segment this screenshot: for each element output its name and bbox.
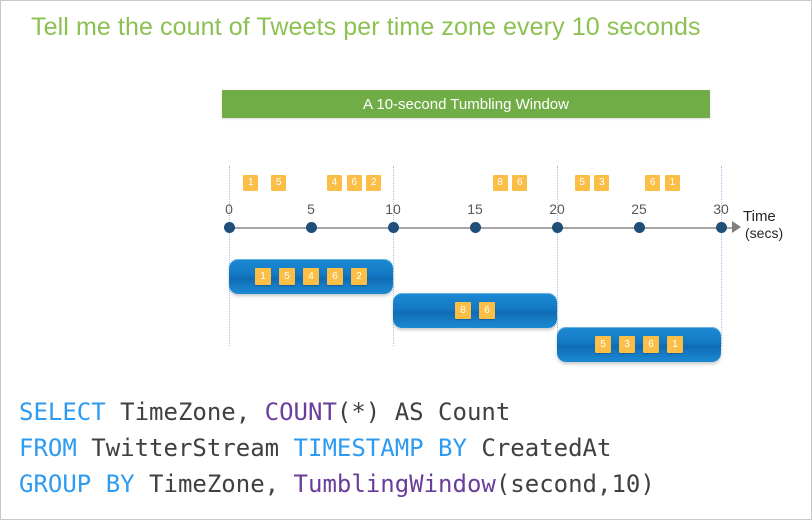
window-token-2-0: 5 — [595, 336, 611, 353]
event-token-8: 3 — [594, 175, 609, 191]
window-token-1-1: 6 — [479, 302, 495, 319]
sql-token-2-3: (second,10) — [496, 470, 655, 498]
axis-dot-10 — [388, 222, 399, 233]
event-token-7: 5 — [575, 175, 590, 191]
axis-dot-15 — [470, 222, 481, 233]
window-token-0-3: 6 — [327, 268, 343, 285]
event-token-10: 1 — [665, 175, 680, 191]
time-axis-unit-text: (secs) — [743, 225, 783, 242]
window-token-1-0: 8 — [455, 302, 471, 319]
window-token-2-2: 6 — [643, 336, 659, 353]
page-title: Tell me the count of Tweets per time zon… — [31, 13, 791, 42]
sql-token-2-2: TumblingWindow — [294, 470, 496, 498]
axis-tick-label-0: 0 — [225, 201, 233, 217]
axis-dot-25 — [634, 222, 645, 233]
guide-line-0 — [229, 166, 230, 346]
axis-tick-label-25: 25 — [631, 201, 647, 217]
sql-token-2-1: TimeZone, — [135, 470, 294, 498]
window-bar-window-0-10: 15462 — [229, 259, 393, 294]
sql-query-block: SELECT TimeZone, COUNT(*) AS CountFROM T… — [19, 394, 799, 502]
slide-canvas: Tell me the count of Tweets per time zon… — [0, 0, 812, 520]
window-token-0-4: 2 — [351, 268, 367, 285]
guide-line-30 — [721, 166, 722, 346]
window-token-0-1: 5 — [279, 268, 295, 285]
tumbling-window-banner-label: A 10-second Tumbling Window — [363, 96, 569, 113]
event-token-4: 2 — [366, 175, 381, 191]
sql-token-0-3: (*) AS Count — [337, 398, 510, 426]
sql-line-1: FROM TwitterStream TIMESTAMP BY CreatedA… — [19, 430, 799, 466]
sql-token-1-2: TIMESTAMP BY — [294, 434, 467, 462]
axis-tick-label-30: 30 — [713, 201, 729, 217]
window-token-0-2: 4 — [303, 268, 319, 285]
axis-dot-5 — [306, 222, 317, 233]
sql-token-2-0: GROUP BY — [19, 470, 135, 498]
axis-tick-label-15: 15 — [467, 201, 483, 217]
sql-token-1-3: CreatedAt — [467, 434, 612, 462]
axis-dot-30 — [716, 222, 727, 233]
axis-tick-label-10: 10 — [385, 201, 401, 217]
timeline-diagram: 051015202530 15462865361 15462865361 Tim… — [1, 151, 812, 381]
event-token-5: 8 — [493, 175, 508, 191]
event-token-2: 4 — [327, 175, 342, 191]
sql-token-0-0: SELECT — [19, 398, 106, 426]
sql-line-2: GROUP BY TimeZone, TumblingWindow(second… — [19, 466, 799, 502]
event-token-6: 6 — [512, 175, 527, 191]
axis-dot-20 — [552, 222, 563, 233]
event-token-9: 6 — [645, 175, 660, 191]
tumbling-window-banner: A 10-second Tumbling Window — [222, 90, 710, 118]
time-axis-label-text: Time — [743, 208, 776, 225]
sql-token-1-1: TwitterStream — [77, 434, 294, 462]
axis-tick-label-20: 20 — [549, 201, 565, 217]
sql-token-0-2: COUNT — [265, 398, 337, 426]
time-axis-label: Time (secs) — [743, 208, 783, 242]
event-token-3: 6 — [347, 175, 362, 191]
sql-token-0-1: TimeZone, — [106, 398, 265, 426]
window-bar-window-10-20: 86 — [393, 293, 557, 328]
window-token-0-0: 1 — [255, 268, 271, 285]
guide-line-20 — [557, 166, 558, 346]
axis-tick-label-5: 5 — [307, 201, 315, 217]
time-axis-arrow-icon — [732, 221, 741, 233]
event-token-1: 5 — [271, 175, 286, 191]
window-bar-window-20-30: 5361 — [557, 327, 721, 362]
event-token-0: 1 — [243, 175, 258, 191]
window-token-2-3: 1 — [667, 336, 683, 353]
sql-token-1-0: FROM — [19, 434, 77, 462]
sql-line-0: SELECT TimeZone, COUNT(*) AS Count — [19, 394, 799, 430]
window-token-2-1: 3 — [619, 336, 635, 353]
time-axis-line — [229, 227, 734, 229]
axis-dot-0 — [224, 222, 235, 233]
